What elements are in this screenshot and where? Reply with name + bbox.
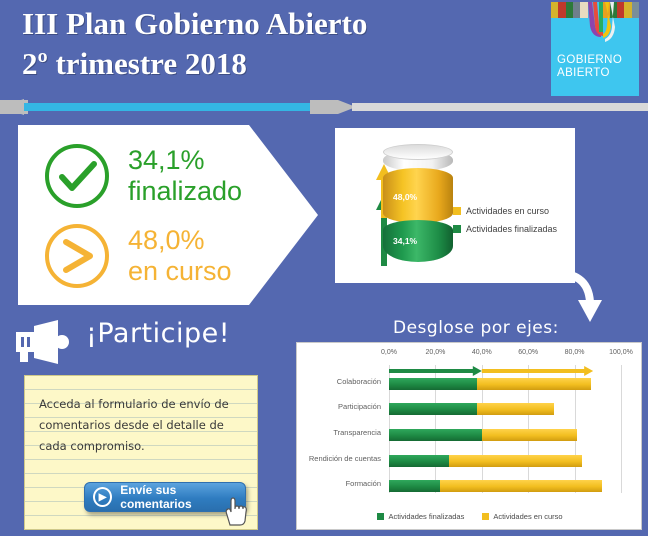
ribbon-swoosh-icon — [581, 2, 617, 42]
bar-chart-x-axis: 0,0%20,0%40,0%60,0%80,0%100,0% — [389, 349, 621, 363]
cylinder-finished-label: 34,1% — [393, 236, 417, 246]
bar-row — [389, 429, 621, 441]
cylinder-chart: 48,0% 34,1% — [375, 144, 461, 269]
legend-swatch-finished — [453, 225, 461, 233]
logo-text-line-2: ABIERTO — [557, 67, 639, 80]
kpi-finished-label: finalizado — [128, 175, 242, 207]
y-tick-label: Colaboración — [337, 377, 381, 386]
bar-chart-card: 0,0%20,0%40,0%60,0%80,0%100,0% Colaborac… — [296, 342, 642, 530]
bar-chart-plot — [389, 365, 621, 493]
bar-segment-finished — [389, 403, 477, 415]
bar-segment-finished — [389, 455, 449, 467]
bar-segment-ongoing — [477, 403, 554, 415]
kpi-finished-text: 34,1% finalizado — [128, 145, 242, 207]
participe-heading: ¡Participe! — [86, 318, 230, 349]
axis-annotation-arrows — [389, 365, 621, 377]
y-tick-label: Formación — [346, 479, 381, 488]
y-tick-label: Transparencia — [333, 428, 381, 437]
bar-chart-legend: Actividades finalizadasActividades en cu… — [297, 512, 643, 521]
y-tick-label: Rendición de cuentas — [309, 454, 381, 463]
bar-legend-swatch — [482, 513, 489, 520]
divider-arrow — [0, 97, 648, 117]
arrow-circle-icon: ▶ — [93, 487, 112, 507]
bar-legend-item: Actividades en curso — [482, 512, 562, 521]
kpi-finished-value: 34,1% — [128, 145, 242, 175]
y-tick-label: Participación — [338, 402, 381, 411]
bar-section-title: Desglose por ejes: — [393, 318, 559, 338]
bar-legend-label: Actividades finalizadas — [388, 512, 464, 521]
bar-segment-ongoing — [449, 455, 581, 467]
x-tick-label: 100,0% — [609, 349, 633, 356]
kpi-ongoing-label: en curso — [128, 255, 232, 287]
chevron-circle-icon — [42, 221, 112, 291]
x-tick-label: 80,0% — [565, 349, 585, 356]
bar-row — [389, 378, 621, 390]
bar-segment-ongoing — [440, 480, 602, 492]
bar-row — [389, 480, 621, 492]
grid-line — [621, 365, 622, 493]
bar-legend-item: Actividades finalizadas — [377, 512, 464, 521]
bar-legend-swatch — [377, 513, 384, 520]
bar-chart-y-axis: ColaboraciónParticipaciónTransparenciaRe… — [297, 365, 385, 493]
bar-row — [389, 455, 621, 467]
cylinder-chart-card: 48,0% 34,1% Actividades en curso Activid… — [335, 128, 575, 283]
cylinder-top-ellipse — [383, 144, 453, 160]
x-tick-label: 20,0% — [425, 349, 445, 356]
title-line-1: III Plan Gobierno Abierto — [22, 6, 367, 41]
hand-cursor-icon — [222, 497, 248, 527]
double-arrow-divider-icon — [0, 97, 648, 117]
megaphone-icon — [14, 318, 76, 366]
bar-legend-label: Actividades en curso — [493, 512, 562, 521]
legend-label-ongoing: Actividades en curso — [466, 206, 549, 216]
x-tick-label: 40,0% — [472, 349, 492, 356]
bar-segment-ongoing — [477, 378, 591, 390]
page-title: III Plan Gobierno Abierto 2º trimestre 2… — [22, 4, 542, 84]
infographic-root: III Plan Gobierno Abierto 2º trimestre 2… — [0, 0, 648, 536]
legend-swatch-ongoing — [453, 207, 461, 215]
bar-segment-finished — [389, 429, 482, 441]
legend-label-finished: Actividades finalizadas — [466, 224, 557, 234]
legend-item-ongoing: Actividades en curso — [453, 206, 557, 216]
bar-segment-ongoing — [482, 429, 577, 441]
check-circle-icon — [42, 141, 112, 211]
cylinder-ongoing-label: 48,0% — [393, 192, 417, 202]
kpi-ongoing-row: 48,0% en curso — [42, 221, 232, 291]
bar-segment-finished — [389, 480, 440, 492]
x-tick-label: 60,0% — [518, 349, 538, 356]
bar-segment-finished — [389, 378, 477, 390]
x-tick-label: 0,0% — [381, 349, 397, 356]
cylinder-legend: Actividades en curso Actividades finaliz… — [453, 206, 557, 242]
kpi-summary-card: 34,1% finalizado 48,0% en curso — [18, 125, 318, 305]
kpi-ongoing-value: 48,0% — [128, 225, 232, 255]
bar-row — [389, 403, 621, 415]
gobierno-abierto-logo: GOBIERNO ABIERTO — [551, 2, 639, 96]
title-line-2: 2º trimestre 2018 — [22, 44, 542, 84]
logo-text: GOBIERNO ABIERTO — [557, 54, 639, 79]
note-text: Acceda al formulario de envío de comenta… — [39, 394, 249, 457]
legend-item-finished: Actividades finalizadas — [453, 224, 557, 234]
kpi-finished-row: 34,1% finalizado — [42, 141, 242, 211]
logo-text-line-1: GOBIERNO — [557, 54, 639, 67]
kpi-ongoing-text: 48,0% en curso — [128, 225, 232, 287]
